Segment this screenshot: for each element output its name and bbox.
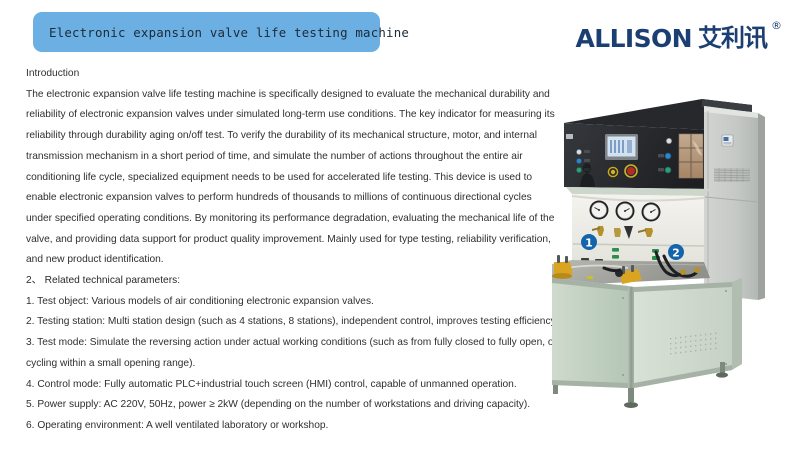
foot-pad-right [716, 372, 728, 377]
indicator-lamp-green-left[interactable] [576, 167, 581, 172]
introduction-heading: Introduction [26, 64, 558, 85]
panel-label-left-1 [584, 150, 590, 153]
hose-fitting-1 [680, 269, 686, 275]
parameter-item-5: 5. Power supply: AC 220V, 50Hz, power ≥ … [26, 395, 558, 416]
panel-label-right-2 [658, 168, 664, 171]
article-body: Introduction The electronic expansion va… [26, 64, 558, 437]
hose-fitting-2 [694, 267, 700, 273]
pushbutton-green-right[interactable] [665, 167, 671, 173]
parameter-item-3: 3. Test mode: Simulate the reversing act… [26, 333, 558, 374]
electrical-cabinet [704, 106, 765, 300]
parameter-item-4: 4. Control mode: Fully automatic PLC+ind… [26, 375, 558, 396]
page-title: Electronic expansion valve life testing … [49, 25, 409, 40]
pushbutton-white-right[interactable] [666, 138, 672, 144]
foot-post-left [553, 385, 558, 394]
foot-post-center [628, 388, 634, 402]
indicator-lamp-blue-left[interactable] [576, 158, 581, 163]
station-badge-2-label: 2 [672, 247, 680, 260]
technical-parameters-heading: 2、 Related technical parameters: [26, 271, 558, 292]
gauge-backboard: 1 2 [566, 187, 710, 266]
panel-screw-4 [725, 363, 727, 365]
foot-pad-center [624, 402, 638, 408]
electrical-cabinet-side [758, 113, 765, 300]
cabinet-vent-grille [714, 168, 750, 182]
indicator-lamp-white-left[interactable] [576, 149, 581, 154]
hmi-bar-2 [614, 140, 616, 153]
panel-placard [566, 134, 573, 139]
brand-logo-latin-text: ALLISON [576, 26, 693, 51]
selector-switch-knob [611, 170, 615, 174]
foot-post-right [720, 362, 725, 373]
pushbutton-blue-right[interactable] [665, 153, 671, 159]
clamp-fixture-1 [552, 255, 573, 279]
panel-screw-3 [725, 290, 727, 292]
station-badge-2: 2 [668, 244, 684, 260]
parameter-item-6: 6. Operating environment: A well ventila… [26, 416, 558, 437]
hmi-touchscreen[interactable] [605, 134, 638, 160]
lower-cabinet [552, 278, 742, 388]
hmi-bar-5 [627, 140, 632, 153]
parameter-item-2: 2. Testing station: Multi station design… [26, 312, 558, 333]
pressure-gauge-1 [590, 201, 609, 220]
parameter-item-1: 1. Test object: Various models of air co… [26, 292, 558, 313]
registered-trademark-icon: ® [771, 20, 782, 31]
lower-cabinet-left-panel [552, 278, 628, 388]
hmi-bar-4 [622, 140, 624, 153]
station-badge-1: 1 [581, 234, 597, 250]
emergency-stop-button[interactable] [627, 167, 635, 175]
panel-screw-2 [622, 374, 624, 376]
panel-screw-1 [622, 297, 624, 299]
brand-logo: ALLISON 艾利讯 ® [576, 26, 783, 51]
cabinet-panel-meter[interactable] [722, 135, 733, 146]
panel-window-reflection [679, 134, 703, 178]
lower-cabinet-side [732, 278, 742, 370]
station-badge-1-label: 1 [585, 237, 593, 250]
pressure-gauge-2 [616, 202, 635, 221]
hmi-bar-3 [618, 140, 620, 153]
panel-label-left-2 [584, 159, 590, 162]
hmi-bar-1 [610, 140, 612, 153]
introduction-paragraph: The electronic expansion valve life test… [26, 85, 558, 271]
worktable-yellow-tag [587, 276, 593, 279]
machine-photo: 1 2 [552, 92, 800, 430]
cabinet-corner-post [628, 286, 634, 388]
brand-logo-cjk-text: 艾利讯 [698, 26, 767, 50]
pressure-gauge-3 [642, 203, 661, 222]
page-title-banner: Electronic expansion valve life testing … [33, 12, 380, 52]
panel-label-right-1 [658, 154, 664, 157]
